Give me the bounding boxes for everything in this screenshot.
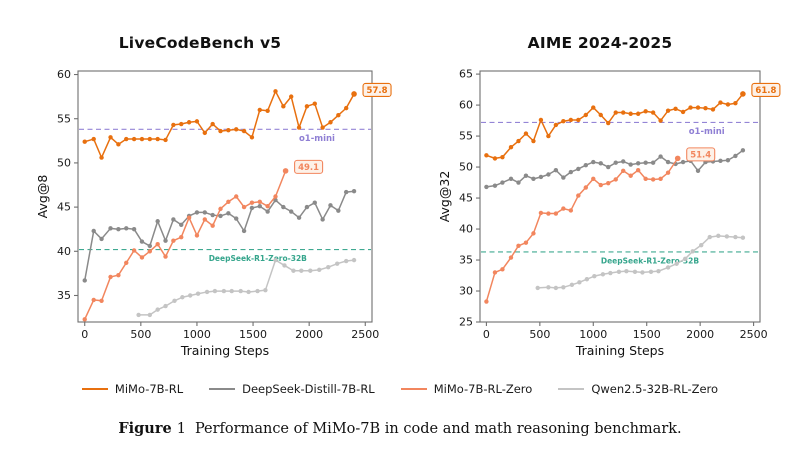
data-point (643, 161, 647, 165)
data-point (577, 280, 581, 284)
data-point (326, 265, 330, 269)
data-point (116, 227, 120, 231)
data-point (116, 142, 120, 146)
y-tick-label: 25 (459, 316, 473, 329)
data-point (576, 118, 580, 122)
data-point (708, 235, 712, 239)
data-point (599, 161, 603, 165)
data-point (636, 168, 640, 172)
annotation-49-1: 49.1 (283, 160, 323, 173)
legend-item-qwen25-32b-rl-zero: Qwen2.5-32B-RL-Zero (558, 382, 718, 396)
legend-swatch-qwen25-32b-rl-zero (558, 388, 584, 390)
annotation-51-4: 51.4 (675, 148, 715, 161)
y-tick-label: 60 (57, 68, 71, 81)
data-point (651, 110, 655, 114)
x-tick-label: 0 (483, 328, 490, 341)
data-point (263, 288, 267, 292)
x-tick-label: 2500 (740, 328, 768, 341)
data-point (584, 113, 588, 117)
data-point (741, 148, 745, 152)
data-point (305, 104, 309, 108)
series-deepseek-distill-7b-rl (83, 189, 357, 283)
data-point (196, 292, 200, 296)
y-tick-label: 35 (459, 254, 473, 267)
data-point (531, 231, 535, 235)
data-point (148, 244, 152, 248)
reference-line-label-o1-mini: o1-mini (689, 127, 725, 137)
annotation-61-8: 61.8 (740, 83, 780, 96)
data-point (584, 185, 588, 189)
data-point (561, 285, 565, 289)
data-point (651, 177, 655, 181)
annotation-57-8: 57.8 (351, 83, 391, 96)
data-point (148, 313, 152, 317)
data-point (255, 289, 259, 293)
data-point (643, 109, 647, 113)
data-point (250, 135, 254, 139)
data-point (601, 272, 605, 276)
y-tick-label: 45 (459, 192, 473, 205)
data-point (108, 135, 112, 139)
data-point (696, 169, 700, 173)
figure-root: LiveCodeBench v5 35404550556005001000150… (0, 0, 800, 467)
data-point (313, 102, 317, 106)
legend-item-deepseek-distill-7b-rl: DeepSeek-Distill-7B-RL (209, 382, 375, 396)
data-point (696, 105, 700, 109)
data-point (265, 109, 269, 113)
data-point (606, 181, 610, 185)
data-point (203, 217, 207, 221)
data-point (546, 285, 550, 289)
data-point (673, 107, 677, 111)
data-point (674, 262, 678, 266)
data-point (242, 129, 246, 133)
data-point (320, 217, 324, 221)
data-point (281, 205, 285, 209)
data-point (614, 110, 618, 114)
caption-number: 1 (177, 421, 186, 437)
data-point (155, 307, 159, 311)
data-point (108, 226, 112, 230)
data-point (524, 240, 528, 244)
annotation-value: 61.8 (755, 86, 776, 96)
annotation-marker (675, 156, 681, 162)
data-point (509, 255, 513, 259)
legend-swatch-deepseek-distill-7b-rl (209, 388, 235, 390)
data-point (718, 159, 722, 163)
series-line (85, 91, 354, 157)
annotation-marker (351, 91, 357, 97)
y-tick-label: 60 (459, 99, 473, 112)
data-point (585, 277, 589, 281)
data-point (658, 118, 662, 122)
data-point (554, 168, 558, 172)
data-point (524, 131, 528, 135)
data-point (651, 161, 655, 165)
x-tick-label: 500 (130, 328, 151, 341)
data-point (308, 269, 312, 273)
data-point (699, 243, 703, 247)
series-line (486, 158, 677, 301)
data-point (716, 234, 720, 238)
data-point (576, 193, 580, 197)
data-point (297, 216, 301, 220)
data-point (163, 138, 167, 142)
x-tick-label: 2000 (295, 328, 323, 341)
x-tick-label: 2500 (351, 328, 379, 341)
data-point (344, 259, 348, 263)
data-point (148, 137, 152, 141)
data-point (171, 123, 175, 127)
data-point (328, 203, 332, 207)
data-point (155, 242, 159, 246)
data-point (148, 249, 152, 253)
y-tick-label: 50 (459, 161, 473, 174)
data-point (606, 165, 610, 169)
data-point (531, 177, 535, 181)
data-point (289, 209, 293, 213)
data-point (592, 274, 596, 278)
panel-livecodebench: LiveCodeBench v5 35404550556005001000150… (0, 0, 400, 370)
data-point (92, 298, 96, 302)
data-point (222, 289, 226, 293)
data-point (195, 119, 199, 123)
data-point (297, 125, 301, 129)
data-point (584, 163, 588, 167)
y-tick-label: 45 (57, 201, 71, 214)
data-point (242, 229, 246, 233)
data-point (136, 313, 140, 317)
data-point (546, 172, 550, 176)
x-tick-label: 1500 (239, 328, 267, 341)
x-tick-label: 1000 (579, 328, 607, 341)
data-point (726, 102, 730, 106)
annotation-value: 49.1 (298, 163, 319, 173)
data-point (500, 155, 504, 159)
data-point (242, 205, 246, 209)
chart-title-right: AIME 2024-2025 (400, 34, 800, 52)
data-point (569, 118, 573, 122)
data-point (539, 211, 543, 215)
chart-panels: LiveCodeBench v5 35404550556005001000150… (0, 0, 800, 370)
data-point (608, 271, 612, 275)
data-point (493, 270, 497, 274)
data-point (258, 204, 262, 208)
data-point (484, 153, 488, 157)
data-point (265, 209, 269, 213)
data-point (636, 161, 640, 165)
data-point (484, 185, 488, 189)
caption-label: Figure (118, 420, 171, 437)
data-point (500, 267, 504, 271)
data-point (493, 156, 497, 160)
data-point (628, 162, 632, 166)
legend-swatch-mimo-7b-rl (82, 388, 108, 390)
data-point (195, 210, 199, 214)
annotation-value: 57.8 (367, 86, 388, 96)
data-point (265, 204, 269, 208)
data-point (516, 139, 520, 143)
data-point (546, 211, 550, 215)
data-point (180, 295, 184, 299)
caption-text: Performance of MiMo-7B in code and math … (195, 421, 682, 437)
data-point (628, 174, 632, 178)
data-point (234, 216, 238, 220)
data-point (282, 263, 286, 267)
data-point (536, 286, 540, 290)
y-tick-label: 40 (459, 223, 473, 236)
data-point (516, 180, 520, 184)
data-point (633, 270, 637, 274)
data-point (218, 214, 222, 218)
data-point (132, 227, 136, 231)
data-point (516, 244, 520, 248)
data-point (188, 293, 192, 297)
data-point (132, 248, 136, 252)
data-point (124, 137, 128, 141)
y-tick-label: 65 (459, 68, 473, 81)
data-point (328, 120, 332, 124)
data-point (210, 213, 214, 217)
data-point (289, 94, 293, 98)
legend-label-mimo-7b-rl: MiMo-7B-RL (115, 382, 183, 396)
data-point (690, 249, 694, 253)
data-point (291, 269, 295, 273)
data-point (172, 299, 176, 303)
legend-swatch-mimo-7b-rl-zero (401, 388, 427, 390)
data-point (666, 108, 670, 112)
data-point (561, 119, 565, 123)
data-point (681, 110, 685, 114)
plot-frame (480, 71, 760, 322)
data-point (733, 154, 737, 158)
data-point (493, 183, 497, 187)
legend-label-mimo-7b-rl-zero: MiMo-7B-RL-Zero (434, 382, 533, 396)
data-point (554, 123, 558, 127)
reference-line-label-deepseek-r1-zero-32b: DeepSeek-R1-Zero-32B (209, 254, 307, 263)
data-point (226, 211, 230, 215)
data-point (352, 189, 356, 193)
data-point (725, 234, 729, 238)
data-point (187, 120, 191, 124)
legend-item-mimo-7b-rl: MiMo-7B-RL (82, 382, 183, 396)
data-point (230, 289, 234, 293)
data-point (524, 174, 528, 178)
data-point (116, 273, 120, 277)
data-point (614, 177, 618, 181)
data-point (614, 161, 618, 165)
chart-title-left: LiveCodeBench v5 (0, 34, 400, 52)
data-point (741, 236, 745, 240)
data-point (239, 289, 243, 293)
data-point (569, 170, 573, 174)
data-point (99, 237, 103, 241)
y-tick-label: 50 (57, 157, 71, 170)
data-point (621, 159, 625, 163)
data-point (305, 205, 309, 209)
chart-legend: MiMo-7B-RL DeepSeek-Distill-7B-RL MiMo-7… (0, 376, 800, 402)
data-point (335, 261, 339, 265)
data-point (656, 269, 660, 273)
x-tick-label: 500 (529, 328, 550, 341)
data-point (666, 170, 670, 174)
data-point (226, 200, 230, 204)
data-point (484, 299, 488, 303)
plot-frame (78, 71, 372, 322)
y-tick-label: 35 (57, 289, 71, 302)
data-point (352, 258, 356, 262)
data-point (554, 286, 558, 290)
data-point (213, 289, 217, 293)
data-point (683, 257, 687, 261)
data-point (132, 137, 136, 141)
series-mimo-7b-rl-zero (83, 169, 288, 322)
y-tick-label: 40 (57, 245, 71, 258)
data-point (509, 177, 513, 181)
data-point (299, 269, 303, 273)
data-point (99, 155, 103, 159)
data-point (313, 200, 317, 204)
data-point (336, 208, 340, 212)
data-point (140, 239, 144, 243)
data-point (179, 122, 183, 126)
data-point (666, 160, 670, 164)
series-line (139, 260, 354, 315)
data-point (171, 238, 175, 242)
data-point (163, 304, 167, 308)
data-point (320, 125, 324, 129)
x-tick-label: 0 (81, 328, 88, 341)
data-point (108, 275, 112, 279)
data-point (569, 208, 573, 212)
data-point (344, 106, 348, 110)
data-point (273, 194, 277, 198)
data-point (83, 278, 87, 282)
data-point (210, 122, 214, 126)
series-mimo-7b-rl (83, 89, 357, 160)
data-point (703, 106, 707, 110)
data-point (203, 131, 207, 135)
data-point (539, 118, 543, 122)
reference-line-label-o1-mini: o1-mini (299, 134, 335, 144)
x-tick-label: 1500 (633, 328, 661, 341)
legend-label-qwen25-32b-rl-zero: Qwen2.5-32B-RL-Zero (591, 382, 718, 396)
data-point (681, 160, 685, 164)
y-axis-label: Avg@32 (437, 171, 452, 223)
data-point (83, 317, 87, 321)
data-point (203, 210, 207, 214)
data-point (83, 140, 87, 144)
data-point (234, 194, 238, 198)
data-point (576, 167, 580, 171)
data-point (718, 100, 722, 104)
data-point (234, 127, 238, 131)
series-line (85, 191, 354, 280)
panel-aime: AIME 2024-2025 2530354045505560650500100… (400, 0, 800, 370)
data-point (163, 238, 167, 242)
data-point (666, 265, 670, 269)
data-point (733, 235, 737, 239)
figure-caption: Figure1Performance of MiMo-7B in code an… (0, 420, 800, 437)
chart-svg-left: 35404550556005001000150020002500Training… (0, 0, 400, 370)
data-point (258, 108, 262, 112)
y-axis-label: Avg@8 (35, 175, 50, 219)
data-point (599, 183, 603, 187)
data-point (273, 258, 277, 262)
data-point (617, 270, 621, 274)
annotation-marker (283, 168, 289, 174)
data-point (726, 158, 730, 162)
data-point (155, 137, 159, 141)
y-tick-label: 30 (459, 285, 473, 298)
data-point (281, 104, 285, 108)
data-point (624, 269, 628, 273)
data-point (561, 206, 565, 210)
data-point (621, 110, 625, 114)
data-point (140, 137, 144, 141)
series-qwen2-5-32b-rl-zero (136, 258, 356, 317)
data-point (591, 177, 595, 181)
x-tick-label: 1000 (183, 328, 211, 341)
data-point (195, 233, 199, 237)
legend-item-mimo-7b-rl-zero: MiMo-7B-RL-Zero (401, 382, 533, 396)
data-point (250, 206, 254, 210)
data-point (205, 290, 209, 294)
data-point (99, 299, 103, 303)
data-point (658, 154, 662, 158)
data-point (591, 160, 595, 164)
data-point (636, 112, 640, 116)
data-point (336, 113, 340, 117)
data-point (344, 190, 348, 194)
data-point (531, 139, 535, 143)
y-tick-label: 55 (459, 130, 473, 143)
annotation-marker (740, 91, 746, 97)
data-point (210, 223, 214, 227)
data-point (218, 207, 222, 211)
data-point (599, 113, 603, 117)
data-point (570, 283, 574, 287)
x-tick-label: 2000 (686, 328, 714, 341)
x-axis-label: Training Steps (575, 343, 664, 358)
data-point (92, 137, 96, 141)
data-point (711, 107, 715, 111)
data-point (92, 229, 96, 233)
data-point (640, 270, 644, 274)
data-point (509, 145, 513, 149)
legend-label-deepseek-distill-7b-rl: DeepSeek-Distill-7B-RL (242, 382, 375, 396)
data-point (179, 235, 183, 239)
data-point (591, 105, 595, 109)
y-tick-label: 55 (57, 112, 71, 125)
data-point (606, 121, 610, 125)
chart-svg-right: 25303540455055606505001000150020002500Tr… (400, 0, 800, 370)
data-point (124, 226, 128, 230)
data-point (546, 134, 550, 138)
data-point (649, 270, 653, 274)
data-point (246, 290, 250, 294)
data-point (500, 180, 504, 184)
data-point (226, 128, 230, 132)
data-point (124, 261, 128, 265)
data-point (250, 200, 254, 204)
data-point (658, 177, 662, 181)
data-point (317, 268, 321, 272)
data-point (163, 254, 167, 258)
data-point (561, 175, 565, 179)
annotation-value: 51.4 (690, 150, 711, 160)
x-axis-label: Training Steps (180, 343, 269, 358)
